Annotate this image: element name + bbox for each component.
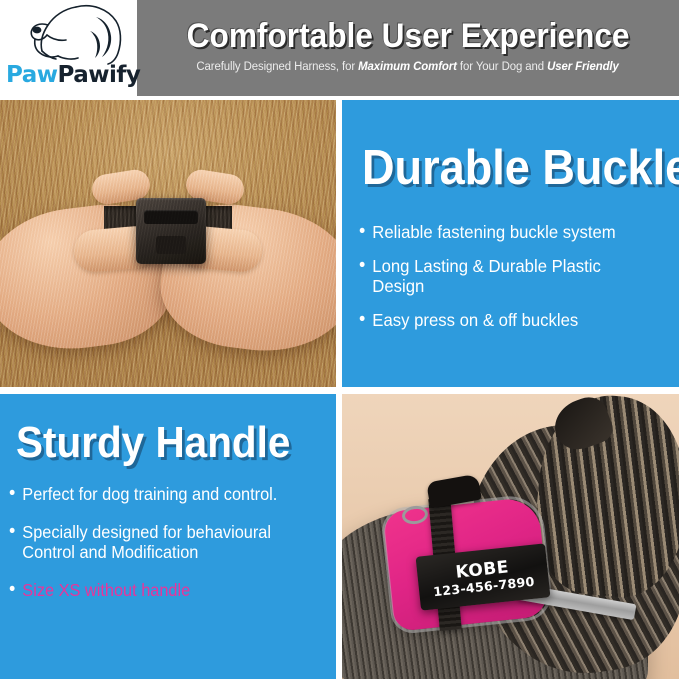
brand-word-paw: Paw: [6, 62, 58, 88]
bullet-text-accent: Size XS without handle: [22, 580, 313, 600]
subtitle-part-2: for Your Dog and: [457, 59, 547, 73]
dog-wearing-pink-harness-photo: KOBE 123-456-7890: [342, 394, 679, 679]
dog-fur-background: [0, 100, 336, 387]
harness-strap-left: [104, 206, 184, 240]
blue-background: Sturdy Handle • Perfect for dog training…: [0, 394, 336, 679]
left-thumb: [72, 225, 157, 274]
bullet-dot-icon: •: [9, 580, 22, 600]
list-item: • Easy press on & off buckles: [359, 310, 644, 331]
bullet-dot-icon: •: [9, 484, 22, 504]
plastic-buckle: [136, 198, 206, 264]
harness-strap-right: [152, 206, 232, 240]
panel-title-sturdy-handle: Sturdy Handle: [16, 421, 290, 465]
bullet-text: Reliable fastening buckle system: [372, 222, 644, 243]
brand-logo: PawPawify: [0, 0, 134, 96]
list-item: • Perfect for dog training and control.: [9, 484, 313, 504]
header-banner: PawPawify Comfortable User Experience Ca…: [0, 0, 679, 96]
header-text-bar: Comfortable User Experience Carefully De…: [137, 0, 679, 96]
blue-background: Durable Buckle • Reliable fastening buck…: [342, 100, 679, 387]
sturdy-handle-bullet-list: • Perfect for dog training and control. …: [9, 484, 329, 619]
left-index-finger: [90, 168, 152, 207]
header-title: Comfortable User Experience: [187, 19, 630, 55]
patch-phone-number: 123-456-7890: [433, 576, 536, 599]
studio-background: KOBE 123-456-7890: [342, 394, 679, 679]
bullet-dot-icon: •: [359, 310, 372, 330]
dog-head-logo-icon: [22, 3, 130, 65]
panel-title-durable-buckle: Durable Buckle: [362, 144, 679, 193]
buckle-closeup-photo: [0, 100, 336, 387]
subtitle-bold-2: User Friendly: [548, 59, 620, 73]
header-subtitle: Carefully Designed Harness, for Maximum …: [197, 59, 619, 73]
bullet-dot-icon: •: [9, 522, 22, 542]
list-item-accent: • Size XS without handle: [9, 580, 313, 600]
bullet-text: Perfect for dog training and control.: [22, 484, 313, 504]
brand-word-pawify: Pawify: [58, 62, 141, 88]
durable-buckle-bullet-list: • Reliable fastening buckle system • Lon…: [359, 222, 659, 343]
bullet-text: Easy press on & off buckles: [372, 310, 644, 331]
list-item: • Reliable fastening buckle system: [359, 222, 644, 243]
right-index-finger: [184, 168, 246, 207]
brand-wordmark: PawPawify: [6, 62, 134, 88]
bullet-dot-icon: •: [359, 222, 372, 242]
bullet-text: Long Lasting & Durable Plastic Design: [372, 256, 644, 297]
list-item: • Long Lasting & Durable Plastic Design: [359, 256, 644, 297]
list-item: • Specially designed for behavioural Con…: [9, 522, 313, 562]
subtitle-part-1: Carefully Designed Harness, for: [197, 59, 359, 73]
sturdy-handle-panel: Sturdy Handle • Perfect for dog training…: [0, 394, 336, 679]
bullet-text: Specially designed for behavioural Contr…: [22, 522, 313, 562]
left-hand: [0, 197, 180, 359]
product-infographic: PawPawify Comfortable User Experience Ca…: [0, 0, 679, 679]
bullet-dot-icon: •: [359, 256, 372, 276]
durable-buckle-panel: Durable Buckle • Reliable fastening buck…: [342, 100, 679, 387]
right-hand: [154, 197, 336, 361]
right-thumb: [178, 225, 263, 274]
subtitle-bold-1: Maximum Comfort: [359, 59, 458, 73]
